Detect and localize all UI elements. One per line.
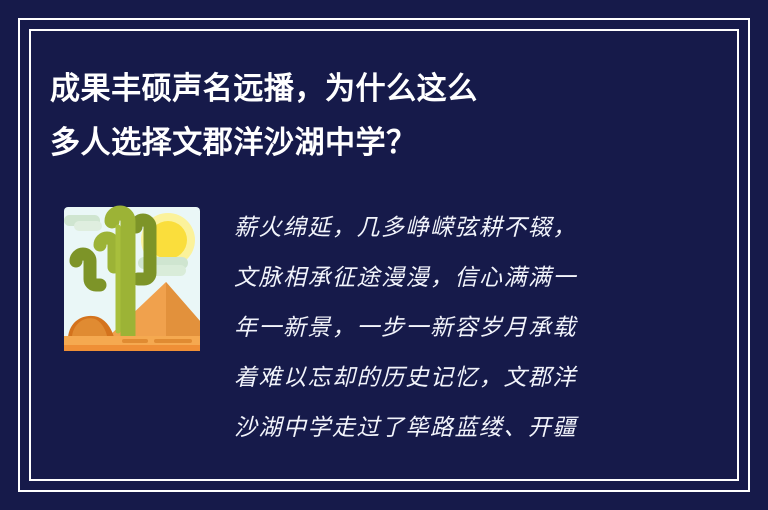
title-line-2: 多人选择文郡洋沙湖中学？ — [50, 116, 671, 170]
article-body: 薪火绵延，几多峥嵘弦耕不辍， 文脉相承征途漫漫，信心满满一 年一新景，一步一新容… — [234, 203, 654, 453]
article-card: 成果丰硕声名远播，为什么这么 多人选择文郡洋沙湖中学？ — [0, 0, 768, 510]
body-line-4: 着难以忘却的历史记忆，文郡洋 — [234, 353, 654, 403]
body-line-2: 文脉相承征途漫漫，信心满满一 — [234, 253, 654, 303]
body-line-1: 薪火绵延，几多峥嵘弦耕不辍， — [234, 203, 654, 253]
ground-strip-shadow — [64, 345, 200, 351]
cloud-top-left-b-icon — [74, 221, 102, 231]
ground-line-1 — [122, 339, 148, 343]
page-title: 成果丰硕声名远播，为什么这么 多人选择文郡洋沙湖中学？ — [50, 62, 690, 170]
ground-line-2 — [154, 339, 192, 343]
body-line-5: 沙湖中学走过了筚路蓝缕、开疆 — [234, 403, 654, 453]
body-line-3: 年一新景，一步一新容岁月承载 — [234, 303, 654, 353]
content-row: 薪火绵延，几多峥嵘弦耕不辍， 文脉相承征途漫漫，信心满满一 年一新景，一步一新容… — [0, 203, 768, 473]
desert-scene-illustration — [62, 205, 202, 361]
title-line-1: 成果丰硕声名远播，为什么这么 — [50, 62, 671, 116]
desert-illustration-svg — [62, 205, 202, 361]
